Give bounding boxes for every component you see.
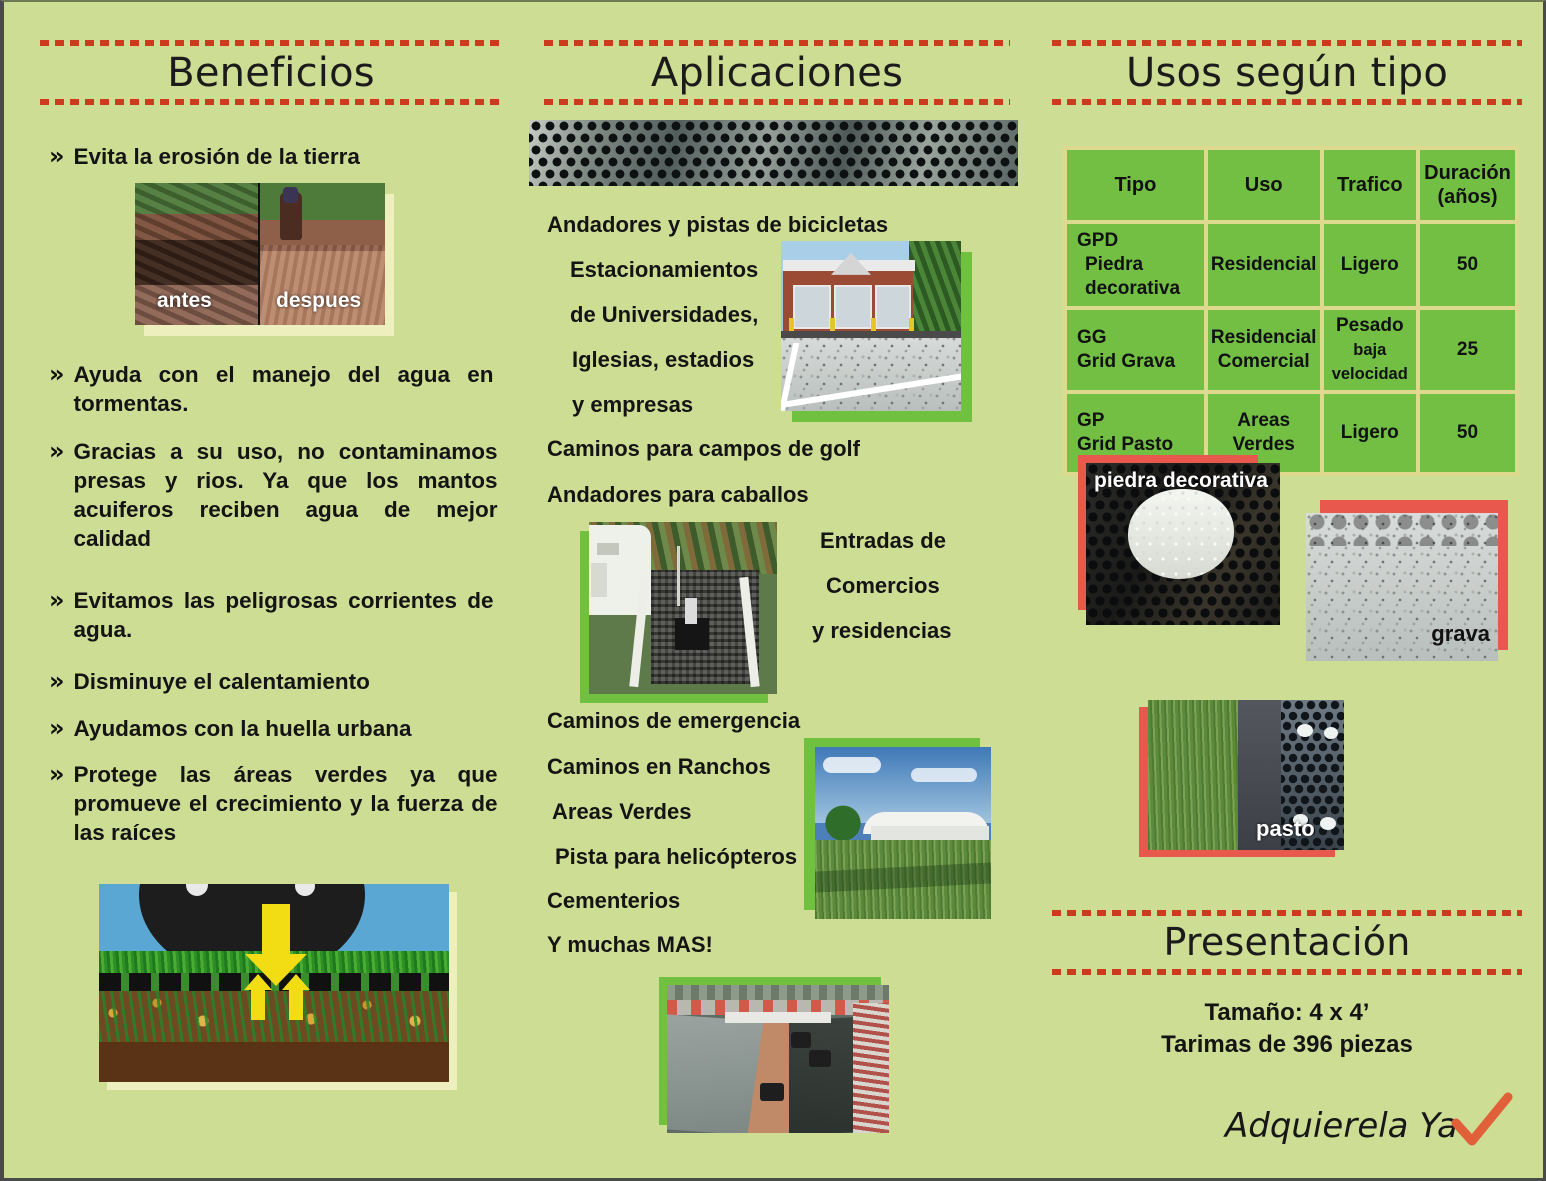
col-header-duracion-line1: Duración (1423, 161, 1512, 185)
erosion-caption-before: antes (157, 289, 212, 313)
piedra-decorativa-photo: piedra decorativa (1086, 463, 1280, 625)
application-line-4: Iglesias, estadios (572, 337, 754, 382)
trafico-line1: Pesado (1327, 314, 1413, 338)
fire-station-gravel-parking-photo (781, 241, 961, 411)
benefits-top-rule (40, 40, 502, 46)
piedra-decorativa-caption: piedra decorativa (1094, 469, 1268, 493)
benefit-text: Gracias a su uso, no contaminamos presas… (74, 437, 498, 553)
uso-line2: Comercial (1211, 350, 1317, 374)
application-line-7: Andadores para caballos (547, 472, 809, 517)
bullet-glyph-icon: » (49, 142, 65, 168)
cta-text[interactable]: Adquierela Ya (1225, 1106, 1458, 1146)
benefit-item-4: » Evitamos las peligrosas corrientes de … (49, 586, 501, 644)
tipo-code: GPD (1077, 229, 1201, 253)
application-line-5: y empresas (572, 382, 693, 427)
grava-caption: grava (1431, 621, 1490, 647)
application-line-8: Caminos de emergencia (547, 698, 800, 743)
erosion-caption-after: despues (276, 289, 361, 313)
tipo-code: GP (1077, 409, 1201, 433)
tipo-name: Grid Grava (1077, 350, 1201, 374)
presentation-top-rule (1052, 910, 1522, 916)
application-line-12: Cementerios (547, 878, 680, 923)
horse-walkway-grid-photo (589, 522, 777, 694)
bullet-glyph-icon: » (49, 360, 65, 386)
application-line-10: Areas Verdes (552, 789, 691, 834)
benefit-text: Ayuda con el manejo del agua en tormenta… (74, 360, 494, 418)
bullet-glyph-icon: » (49, 586, 65, 612)
bullet-glyph-icon: » (49, 667, 65, 693)
col-header-duracion-line2: (años) (1423, 185, 1512, 209)
pasto-photo: pasto (1148, 700, 1344, 850)
trafico-line2: baja velocidad (1327, 338, 1413, 386)
usage-bottom-rule (1052, 99, 1522, 105)
benefit-text: Protege las áreas verdes ya que promueve… (74, 760, 498, 847)
benefit-item-6: » Ayudamos con la huella urbana (49, 714, 501, 743)
presentation-title: Presentación (1052, 920, 1522, 964)
application-line-9: Caminos en Ranchos (547, 744, 771, 789)
tipo-code: GG (1077, 326, 1201, 350)
usage-title: Usos según tipo (1052, 50, 1522, 96)
application-line-2: Estacionamientos (570, 247, 758, 292)
col-header-duracion: Duración (años) (1420, 150, 1515, 220)
benefit-text: Evitamos las peligrosas corrientes de ag… (74, 586, 494, 644)
cell-duracion: 25 (1420, 310, 1515, 390)
tipo-name: Grid Pasto (1077, 433, 1201, 457)
cell-uso: Residencial Comercial (1208, 310, 1320, 390)
col-header-uso: Uso (1208, 150, 1320, 220)
benefit-item-3: » Gracias a su uso, no contaminamos pres… (49, 437, 501, 553)
application-line-11: Pista para helicópteros (555, 834, 797, 879)
application-side-line-2: Comercios (826, 563, 940, 608)
cell-uso: Residencial (1208, 224, 1320, 306)
application-side-line-3: y residencias (812, 608, 951, 653)
benefit-text: Ayudamos con la huella urbana (74, 714, 494, 743)
benefit-text: Evita la erosión de la tierra (74, 142, 474, 171)
applications-title: Aplicaciones (544, 50, 1010, 96)
cell-tipo: GG Grid Grava (1067, 310, 1204, 390)
cell-trafico: Ligero (1324, 394, 1416, 472)
stadium-green-lawn-photo (815, 747, 991, 919)
cell-trafico: Ligero (1324, 224, 1416, 306)
bullet-glyph-icon: » (49, 760, 65, 786)
benefit-text: Disminuye el calentamiento (74, 667, 494, 696)
bullet-glyph-icon: » (49, 437, 65, 463)
uso-line1: Residencial (1211, 326, 1317, 350)
table-row: GG Grid Grava Residencial Comercial Pesa… (1067, 310, 1515, 390)
benefit-item-7: » Protege las áreas verdes ya que promue… (49, 760, 501, 847)
presentation-size-line: Tamaño: 4 x 4’ (1052, 999, 1522, 1027)
tipo-name: Piedra decorativa (1077, 253, 1201, 301)
application-line-6: Caminos para campos de golf (547, 426, 860, 471)
application-line-13: Y muchas MAS! (547, 922, 713, 967)
usage-table: Tipo Uso Trafico Duración (años) GPD Pie… (1063, 146, 1519, 476)
benefit-item-1: » Evita la erosión de la tierra (49, 142, 499, 171)
application-side-line-1: Entradas de (820, 518, 946, 563)
cell-duracion: 50 (1420, 394, 1515, 472)
table-header-row: Tipo Uso Trafico Duración (años) (1067, 150, 1515, 220)
benefit-item-2: » Ayuda con el manejo del agua en tormen… (49, 360, 501, 418)
applications-top-rule (544, 40, 1010, 46)
stadium-aerial-parking-photo (667, 985, 889, 1133)
cell-trafico: Pesado baja velocidad (1324, 310, 1416, 390)
honeycomb-grid-banner (529, 120, 1018, 186)
pasto-caption: pasto (1256, 816, 1315, 842)
benefits-bottom-rule (40, 99, 502, 105)
brochure-page: Beneficios » Evita la erosión de la tier… (0, 0, 1546, 1181)
benefits-title: Beneficios (40, 50, 502, 96)
table-row: GPD Piedra decorativa Residencial Ligero… (1067, 224, 1515, 306)
col-header-tipo: Tipo (1067, 150, 1204, 220)
check-icon (1448, 1087, 1514, 1153)
presentation-bottom-rule (1052, 969, 1522, 975)
applications-bottom-rule (544, 99, 1010, 105)
erosion-photo: antes despues (135, 183, 385, 325)
presentation-pallet-line: Tarimas de 396 piezas (1052, 1031, 1522, 1059)
col-header-trafico: Trafico (1324, 150, 1416, 220)
cross-section-diagram (99, 884, 449, 1082)
bullet-glyph-icon: » (49, 714, 65, 740)
usage-top-rule (1052, 40, 1522, 46)
cell-tipo: GPD Piedra decorativa (1067, 224, 1204, 306)
grava-photo: grava (1306, 513, 1498, 661)
cell-duracion: 50 (1420, 224, 1515, 306)
benefit-item-5: » Disminuye el calentamiento (49, 667, 501, 696)
application-line-3: de Universidades, (570, 292, 758, 337)
